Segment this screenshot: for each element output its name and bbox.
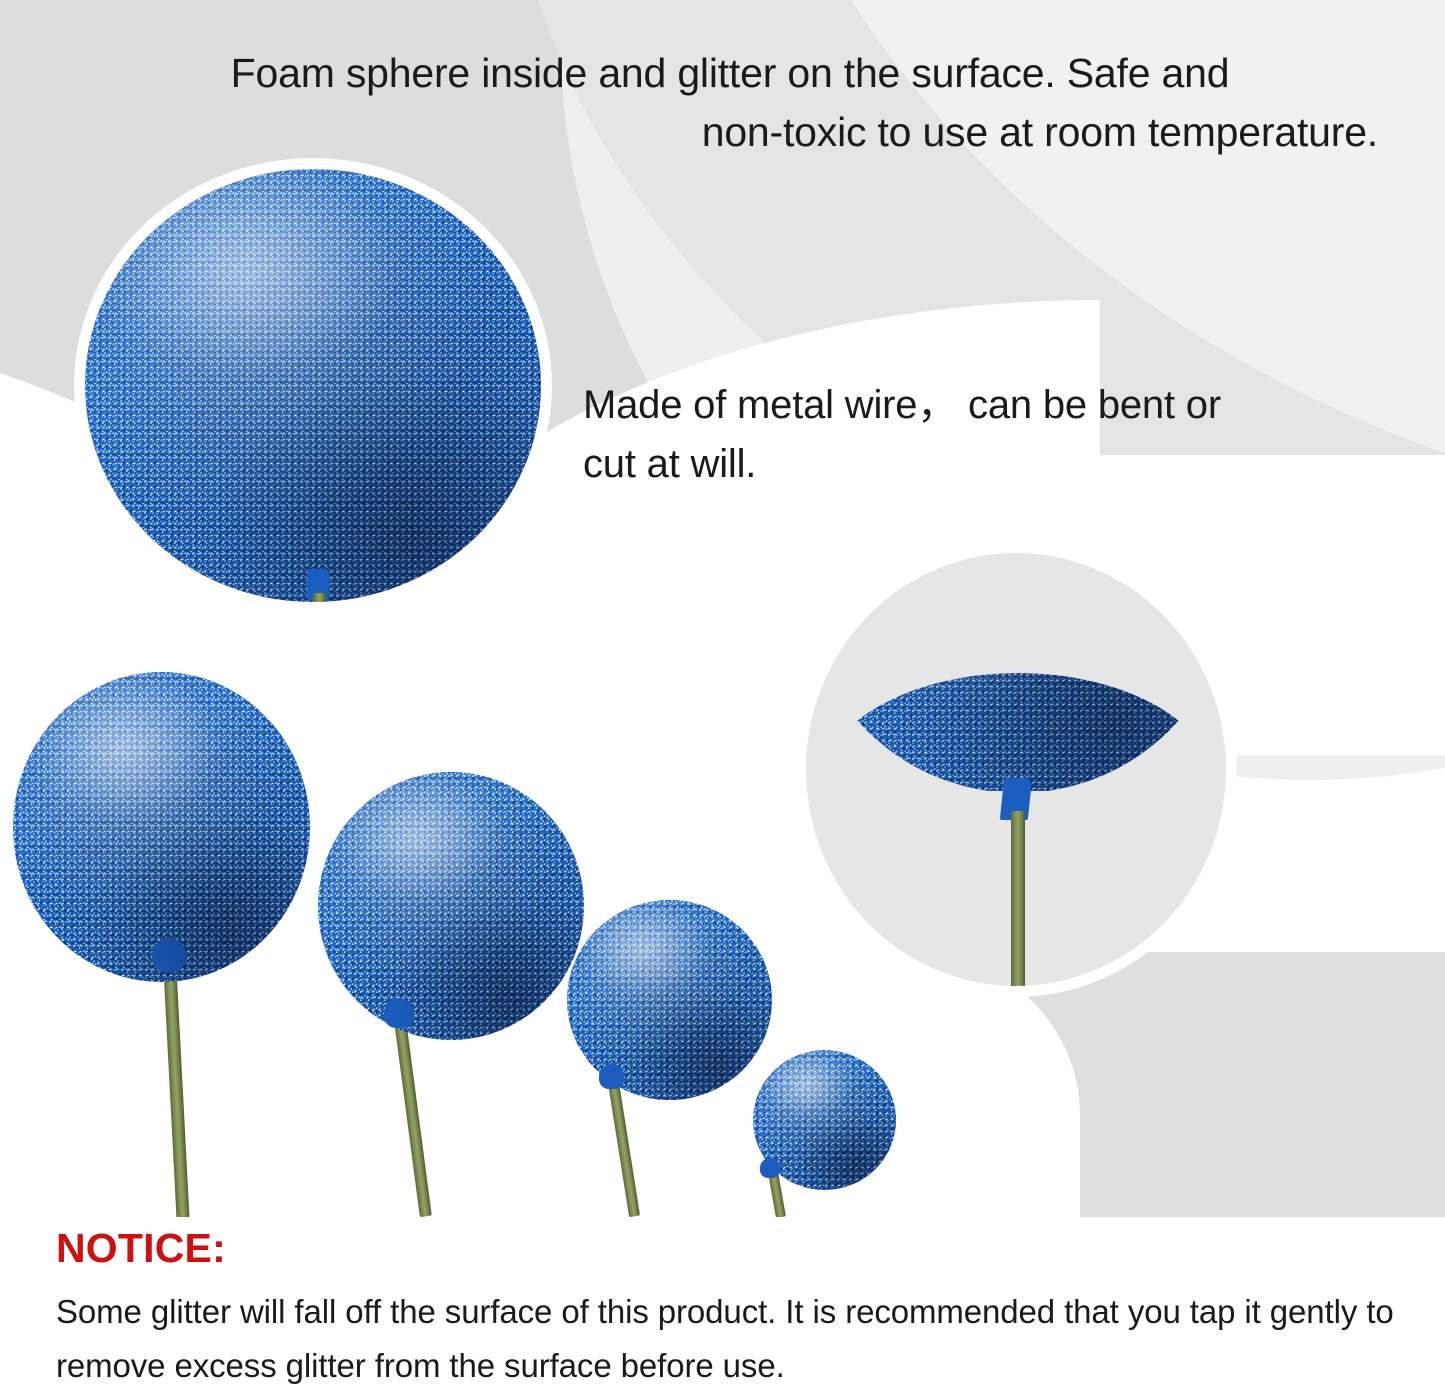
glitter-sphere-closeup <box>74 160 542 610</box>
subheadline-text: Made of metal wire， can be bent or cut a… <box>583 376 1413 494</box>
joint-large <box>384 998 414 1028</box>
joint-small <box>760 1158 780 1178</box>
closeup-wire-stem-inset <box>795 542 1237 997</box>
wire-stem-small <box>768 1171 786 1218</box>
glitter-sphere-partial <box>818 561 1218 791</box>
subheadline-line-2: cut at will. <box>583 435 1413 494</box>
headline-text: Foam sphere inside and glitter on the su… <box>70 44 1390 163</box>
glitter-ball-medium <box>567 900 772 1100</box>
glitter-ball-largest <box>13 672 310 982</box>
wire-stem-large <box>394 1019 432 1217</box>
wire-stem-closeup <box>313 593 326 613</box>
product-infographic: Foam sphere inside and glitter on the su… <box>0 0 1445 1394</box>
glitter-sphere-partial-surface <box>818 561 1218 791</box>
notice-block: NOTICE: Some glitter will fall off the s… <box>56 1226 1396 1392</box>
wire-stem-detail <box>1011 811 1025 997</box>
wire-stem-largest <box>163 960 189 1218</box>
headline-line-2: non-toxic to use at room temperature. <box>70 103 1390 162</box>
wire-stem-medium <box>608 1082 640 1217</box>
joint-medium <box>599 1064 624 1089</box>
notice-title: NOTICE: <box>56 1226 1396 1271</box>
joint-largest <box>152 938 186 972</box>
headline-line-1: Foam sphere inside and glitter on the su… <box>231 50 1230 96</box>
notice-body: Some glitter will fall off the surface o… <box>56 1285 1396 1392</box>
subheadline-line-1: Made of metal wire， can be bent or <box>583 376 1413 435</box>
glitter-ball-large <box>318 772 584 1040</box>
closeup-glitter-sphere-inset <box>74 158 552 613</box>
